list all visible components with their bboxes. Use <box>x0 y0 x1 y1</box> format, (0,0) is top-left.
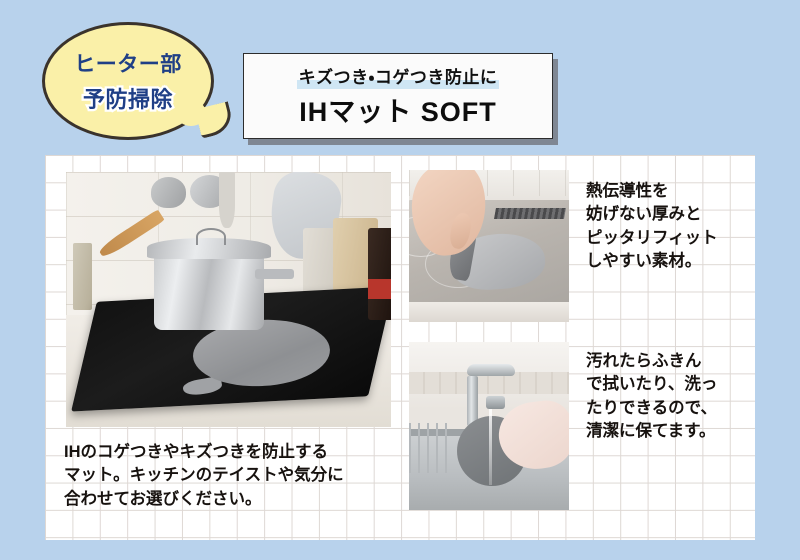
product-name-title: IHマット SOFT <box>299 90 497 129</box>
badge-line-1: ヒーター部 <box>74 48 182 78</box>
pot-lid-knob <box>196 228 226 245</box>
caption-main-line-1: IHのコゲつきやキズつきを防止する <box>64 441 404 464</box>
caption-bottom-right: 汚れたらふきん で拭いたり、洗っ たりできるので、 清潔に保てます。 <box>586 350 766 444</box>
badge-line-2: 予防掃除 <box>83 82 173 114</box>
photo-washing-mat-scene <box>409 342 569 510</box>
caption-main-line-3: 合わせてお選びください。 <box>64 488 404 511</box>
sauce-bottle-label <box>368 279 391 299</box>
caption-top-right-line-2: 妨げない厚みと <box>586 203 766 226</box>
photo-placing-mat-scene <box>409 170 569 322</box>
photo-main-scene <box>66 172 391 427</box>
pot-side-grip <box>255 269 294 279</box>
caption-bottom-right-line-3: たりできるので、 <box>586 397 766 420</box>
title-card: キズつき・コゲつき防止に IHマット SOFT <box>243 53 553 139</box>
br-faucet-head <box>486 396 505 409</box>
hanging-scoop-a <box>151 177 187 208</box>
bubble-text-group: ヒーター部 予防掃除 <box>42 22 214 140</box>
caption-top-right-line-3: ピッタリフィット <box>586 227 766 250</box>
oil-bottle <box>73 243 93 309</box>
br-water-stream <box>489 409 492 485</box>
title-subtitle: キズつき・コゲつき防止に <box>297 63 500 88</box>
caption-top-right-line-1: 熱伝導性を <box>586 180 766 203</box>
tr-cooktop-vent <box>494 208 566 219</box>
hanging-whisk <box>219 172 235 228</box>
photo-main-cooktop <box>66 172 391 427</box>
stainless-pot <box>154 249 265 331</box>
photo-placing-mat <box>409 170 569 322</box>
caption-main: IHのコゲつきやキズつきを防止する マット。キッチンのテイストや気分に 合わせて… <box>64 441 404 511</box>
caption-top-right-line-4: しやすい素材。 <box>586 250 766 273</box>
caption-bottom-right-line-1: 汚れたらふきん <box>586 350 766 373</box>
caption-bottom-right-line-2: で拭いたり、洗っ <box>586 373 766 396</box>
br-faucet-arm <box>467 364 515 376</box>
photo-washing-mat <box>409 342 569 510</box>
sauce-bottle <box>368 228 391 320</box>
tr-counter-front <box>409 302 569 322</box>
br-dish-rack <box>409 423 451 473</box>
heater-prevention-badge: ヒーター部 予防掃除 <box>42 22 214 140</box>
caption-main-line-2: マット。キッチンのテイストや気分に <box>64 464 404 487</box>
caption-bottom-right-line-4: 清潔に保てます。 <box>586 420 766 443</box>
caption-top-right: 熱伝導性を 妨げない厚みと ピッタリフィット しやすい素材。 <box>586 180 766 274</box>
